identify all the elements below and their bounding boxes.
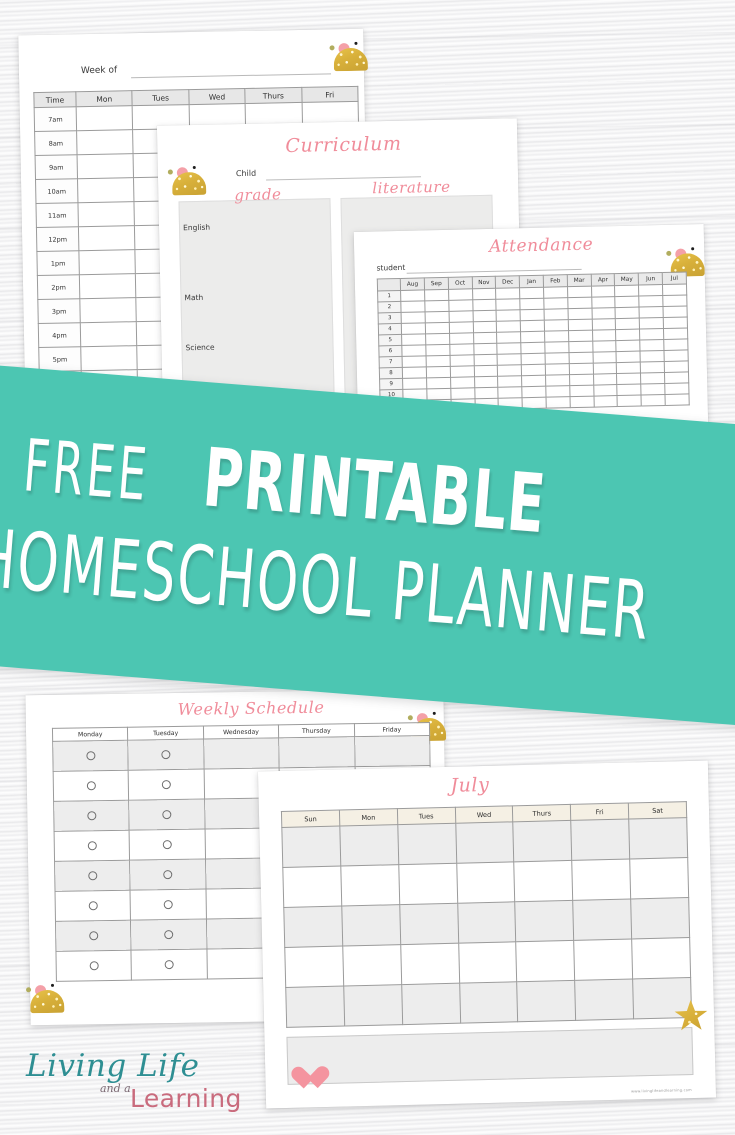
pinterest-pin-image: Week of TimeMonTuesWedThursFri 7am8am9am… bbox=[0, 0, 735, 1135]
cell-9-nov[interactable] bbox=[474, 376, 498, 388]
checkbox-circle[interactable] bbox=[89, 961, 98, 970]
cell-9-dec[interactable] bbox=[498, 376, 522, 388]
day-cell-w0-thurs[interactable] bbox=[513, 820, 572, 861]
cell-5-nov[interactable] bbox=[473, 332, 497, 344]
column-header-4: Thurs bbox=[245, 87, 302, 103]
day-cell-w2-sun[interactable] bbox=[284, 906, 343, 947]
column-header-friday: Friday bbox=[354, 722, 430, 736]
cell-4-apr[interactable] bbox=[592, 319, 616, 331]
day-cell-w4-thurs[interactable] bbox=[517, 980, 576, 1021]
column-header-tuesday: Tuesday bbox=[128, 726, 204, 740]
day-cell-w0-sat[interactable] bbox=[629, 818, 688, 859]
cell-9-feb[interactable] bbox=[546, 375, 570, 387]
cell-5-mar[interactable] bbox=[568, 330, 592, 342]
checkbox-circle[interactable] bbox=[161, 750, 170, 759]
cell-6-monday[interactable] bbox=[55, 920, 131, 951]
hedgehog-glitter-icon bbox=[166, 165, 211, 196]
day-cell-w1-sun[interactable] bbox=[283, 866, 342, 907]
cell-4-1[interactable] bbox=[78, 202, 135, 227]
checkbox-circle[interactable] bbox=[162, 780, 171, 789]
cell-7-tuesday[interactable] bbox=[131, 949, 207, 980]
day-cell-w3-fri[interactable] bbox=[574, 939, 633, 980]
column-header-blank bbox=[377, 278, 400, 291]
cell-0-wednesday[interactable] bbox=[203, 738, 279, 769]
cell-11-may[interactable] bbox=[617, 395, 641, 407]
cell-8-jan[interactable] bbox=[522, 364, 546, 376]
cell-3-nov[interactable] bbox=[473, 310, 497, 322]
cell-4-dec[interactable] bbox=[497, 321, 521, 333]
column-header-wed: Wed bbox=[455, 806, 513, 823]
cell-7-jan[interactable] bbox=[521, 353, 545, 365]
cell-9-oct[interactable] bbox=[450, 377, 474, 389]
cell-3-jun[interactable] bbox=[639, 306, 663, 318]
cell-4-jul[interactable] bbox=[663, 317, 687, 329]
cell-2-jul[interactable] bbox=[663, 295, 687, 307]
time-label-3[interactable]: 10am bbox=[36, 179, 79, 204]
cell-11-mar[interactable] bbox=[570, 396, 594, 408]
day-cell-w0-sun[interactable] bbox=[282, 826, 341, 867]
cell-0-thursday[interactable] bbox=[279, 737, 355, 768]
row-number-4[interactable]: 4 bbox=[378, 323, 401, 335]
olive-dot-icon bbox=[168, 169, 173, 174]
checkbox-circle[interactable] bbox=[86, 781, 95, 790]
cell-2-nov[interactable] bbox=[472, 299, 496, 311]
day-cell-w4-mon[interactable] bbox=[344, 985, 403, 1026]
cell-0-friday[interactable] bbox=[354, 735, 430, 766]
day-cell-w3-thurs[interactable] bbox=[516, 940, 575, 981]
subject-math: Math bbox=[184, 293, 203, 302]
subject-science: Science bbox=[185, 343, 214, 353]
cell-11-feb[interactable] bbox=[546, 397, 570, 409]
cell-4-jun[interactable] bbox=[640, 317, 664, 329]
table-row bbox=[286, 978, 692, 1028]
cell-3-jan[interactable] bbox=[520, 309, 544, 321]
checkbox-circle[interactable] bbox=[164, 930, 173, 939]
column-header-apr: Apr bbox=[591, 274, 615, 287]
olive-dot-icon bbox=[329, 45, 334, 50]
cell-9-aug[interactable] bbox=[403, 378, 427, 390]
column-header-tues: Tues bbox=[397, 807, 455, 824]
pink-heart-icon bbox=[291, 1067, 318, 1092]
brand-learning: Learning bbox=[130, 1084, 242, 1113]
day-cell-w3-tues[interactable] bbox=[400, 943, 459, 984]
cell-5-dec[interactable] bbox=[497, 332, 521, 344]
cell-1-feb[interactable] bbox=[544, 287, 568, 299]
week-of-label: Week of bbox=[81, 65, 117, 76]
time-label-8[interactable]: 3pm bbox=[38, 299, 81, 324]
cell-6-jan[interactable] bbox=[521, 342, 545, 354]
cell-5-jun[interactable] bbox=[640, 328, 664, 340]
attendance-title: Attendance bbox=[489, 235, 594, 257]
day-cell-w0-tues[interactable] bbox=[397, 823, 456, 864]
cell-8-jun[interactable] bbox=[641, 361, 665, 373]
cell-6-jun[interactable] bbox=[640, 339, 664, 351]
cell-2-oct[interactable] bbox=[449, 300, 473, 312]
cell-9-jan[interactable] bbox=[522, 375, 546, 387]
day-cell-w2-mon[interactable] bbox=[342, 905, 401, 946]
black-dot-icon bbox=[51, 984, 54, 987]
cell-8-may[interactable] bbox=[617, 362, 641, 374]
cell-1-sep[interactable] bbox=[425, 289, 449, 301]
cell-10-mar[interactable] bbox=[570, 385, 594, 397]
column-header-oct: Oct bbox=[448, 277, 472, 290]
cell-8-dec[interactable] bbox=[498, 365, 522, 377]
subject-english: English bbox=[183, 223, 210, 233]
time-label-2[interactable]: 9am bbox=[35, 155, 78, 180]
cell-6-aug[interactable] bbox=[402, 345, 426, 357]
day-cell-w1-sat[interactable] bbox=[630, 858, 689, 899]
cell-4-mar[interactable] bbox=[568, 319, 592, 331]
checkbox-circle[interactable] bbox=[88, 871, 97, 880]
row-number-3[interactable]: 3 bbox=[378, 312, 401, 324]
cell-1-tuesday[interactable] bbox=[129, 769, 205, 800]
column-header-thurs: Thurs bbox=[513, 804, 571, 821]
olive-dot-icon bbox=[666, 251, 671, 256]
cell-7-oct[interactable] bbox=[450, 355, 474, 367]
cell-8-aug[interactable] bbox=[402, 367, 426, 379]
cell-10-apr[interactable] bbox=[593, 385, 617, 397]
olive-dot-icon bbox=[408, 715, 413, 720]
cell-1-1[interactable] bbox=[77, 130, 134, 155]
cell-11-apr[interactable] bbox=[594, 396, 618, 408]
july-title: July bbox=[450, 774, 490, 797]
row-number-6[interactable]: 6 bbox=[379, 345, 402, 357]
day-cell-w4-sun[interactable] bbox=[286, 986, 345, 1027]
cell-3-oct[interactable] bbox=[449, 311, 473, 323]
cell-7-feb[interactable] bbox=[545, 353, 569, 365]
cell-5-jan[interactable] bbox=[521, 331, 545, 343]
column-header-0: Time bbox=[34, 92, 76, 108]
cell-4-may[interactable] bbox=[616, 318, 640, 330]
hedgehog-body bbox=[334, 48, 368, 72]
cell-0-monday[interactable] bbox=[53, 740, 129, 771]
cell-7-aug[interactable] bbox=[402, 356, 426, 368]
column-header-may: May bbox=[615, 273, 639, 286]
column-header-mar: Mar bbox=[567, 274, 591, 287]
cell-2-dec[interactable] bbox=[496, 299, 520, 311]
cell-3-may[interactable] bbox=[615, 307, 639, 319]
cell-7-jul[interactable] bbox=[664, 350, 688, 362]
time-label-1[interactable]: 8am bbox=[35, 131, 78, 156]
cell-5-jul[interactable] bbox=[664, 328, 688, 340]
cell-3-tuesday[interactable] bbox=[129, 829, 205, 860]
cell-2-may[interactable] bbox=[615, 296, 639, 308]
cell-6-1[interactable] bbox=[79, 250, 136, 275]
cell-7-monday[interactable] bbox=[56, 950, 132, 981]
cell-7-dec[interactable] bbox=[497, 354, 521, 366]
cell-0-tuesday[interactable] bbox=[128, 739, 204, 770]
cell-11-jul[interactable] bbox=[665, 394, 689, 406]
cell-8-1[interactable] bbox=[80, 298, 137, 323]
cell-5-feb[interactable] bbox=[545, 331, 569, 343]
day-cell-w1-wed[interactable] bbox=[456, 862, 515, 903]
planner-sheet-july-calendar: July SunMonTuesWedThursFriSat www.living… bbox=[258, 761, 716, 1109]
cell-2-feb[interactable] bbox=[544, 298, 568, 310]
curriculum-literature-header: literature bbox=[372, 178, 451, 198]
july-notes-area bbox=[286, 1027, 693, 1085]
cell-1-oct[interactable] bbox=[448, 289, 472, 301]
site-watermark: www.livinglifeandlearning.com bbox=[631, 1088, 692, 1093]
cell-0-1[interactable] bbox=[76, 106, 133, 131]
cell-8-jul[interactable] bbox=[664, 361, 688, 373]
black-dot-icon bbox=[691, 247, 694, 250]
cell-2-jun[interactable] bbox=[639, 295, 663, 307]
cell-10-sep[interactable] bbox=[427, 388, 451, 400]
day-cell-w1-tues[interactable] bbox=[398, 863, 457, 904]
cell-2-jan[interactable] bbox=[520, 298, 544, 310]
child-label: Child bbox=[236, 169, 256, 178]
cell-4-sep[interactable] bbox=[425, 322, 449, 334]
cell-10-1[interactable] bbox=[81, 346, 138, 371]
day-cell-w3-sun[interactable] bbox=[285, 946, 344, 987]
week-of-writeline bbox=[131, 73, 331, 78]
cell-6-apr[interactable] bbox=[592, 341, 616, 353]
cell-5-apr[interactable] bbox=[592, 330, 616, 342]
time-label-0[interactable]: 7am bbox=[34, 107, 77, 132]
cell-1-nov[interactable] bbox=[472, 288, 496, 300]
day-cell-w2-wed[interactable] bbox=[457, 902, 516, 943]
day-cell-w0-wed[interactable] bbox=[455, 822, 514, 863]
cell-6-jul[interactable] bbox=[664, 339, 688, 351]
cell-2-tuesday[interactable] bbox=[129, 799, 205, 830]
cell-9-jul[interactable] bbox=[665, 372, 689, 384]
cell-8-apr[interactable] bbox=[593, 363, 617, 375]
cell-6-feb[interactable] bbox=[545, 342, 569, 354]
cell-8-oct[interactable] bbox=[450, 366, 474, 378]
column-header-5: Fri bbox=[301, 86, 358, 102]
july-calendar-table: SunMonTuesWedThursFriSat bbox=[281, 801, 692, 1028]
cell-11-jun[interactable] bbox=[641, 394, 665, 406]
time-label-7[interactable]: 2pm bbox=[37, 275, 80, 300]
cell-7-jun[interactable] bbox=[640, 350, 664, 362]
day-cell-w4-tues[interactable] bbox=[401, 983, 460, 1024]
student-label: student bbox=[376, 263, 405, 273]
olive-dot-icon bbox=[26, 987, 31, 992]
cell-9-may[interactable] bbox=[617, 373, 641, 385]
time-label-6[interactable]: 1pm bbox=[37, 251, 80, 276]
checkbox-circle[interactable] bbox=[87, 811, 96, 820]
cell-7-may[interactable] bbox=[616, 351, 640, 363]
column-header-monday: Monday bbox=[52, 727, 128, 741]
brand-living-life: Living Life bbox=[26, 1048, 199, 1084]
cell-1-aug[interactable] bbox=[401, 290, 425, 302]
row-number-1[interactable]: 1 bbox=[378, 290, 401, 302]
time-label-10[interactable]: 5pm bbox=[39, 347, 82, 372]
cell-4-oct[interactable] bbox=[449, 322, 473, 334]
cell-10-jun[interactable] bbox=[641, 383, 665, 395]
column-header-fri: Fri bbox=[571, 803, 629, 820]
cell-5-may[interactable] bbox=[616, 329, 640, 341]
cell-6-may[interactable] bbox=[616, 340, 640, 352]
cell-5-oct[interactable] bbox=[449, 333, 473, 345]
day-cell-w1-mon[interactable] bbox=[341, 865, 400, 906]
cell-3-aug[interactable] bbox=[401, 312, 425, 324]
day-cell-w4-wed[interactable] bbox=[459, 982, 518, 1023]
cell-5-monday[interactable] bbox=[55, 890, 131, 921]
cell-2-1[interactable] bbox=[77, 154, 134, 179]
cell-8-nov[interactable] bbox=[474, 365, 498, 377]
column-header-nov: Nov bbox=[472, 276, 496, 289]
day-cell-w0-mon[interactable] bbox=[340, 825, 399, 866]
cell-7-apr[interactable] bbox=[593, 352, 617, 364]
teal-banner bbox=[0, 360, 735, 730]
checkbox-circle[interactable] bbox=[163, 870, 172, 879]
cell-5-tuesday[interactable] bbox=[130, 889, 206, 920]
cell-8-mar[interactable] bbox=[569, 363, 593, 375]
hedgehog-body bbox=[172, 172, 206, 196]
day-cell-w1-fri[interactable] bbox=[572, 859, 631, 900]
cell-3-dec[interactable] bbox=[496, 310, 520, 322]
day-cell-w2-sat[interactable] bbox=[631, 898, 690, 939]
cell-6-oct[interactable] bbox=[450, 344, 474, 356]
cell-4-nov[interactable] bbox=[473, 321, 497, 333]
row-number-5[interactable]: 5 bbox=[379, 334, 402, 346]
cell-1-jul[interactable] bbox=[663, 284, 687, 296]
cell-3-sep[interactable] bbox=[425, 311, 449, 323]
curriculum-title: Curriculum bbox=[285, 133, 402, 157]
time-label-4[interactable]: 11am bbox=[36, 203, 79, 228]
column-header-jan: Jan bbox=[519, 275, 543, 288]
cell-3-apr[interactable] bbox=[592, 308, 616, 320]
cell-3-mar[interactable] bbox=[568, 308, 592, 320]
column-header-3: Wed bbox=[189, 89, 246, 105]
cell-10-jan[interactable] bbox=[522, 386, 546, 398]
cell-6-dec[interactable] bbox=[497, 343, 521, 355]
cell-1-jun[interactable] bbox=[639, 285, 663, 297]
day-cell-w1-thurs[interactable] bbox=[514, 860, 573, 901]
column-header-aug: Aug bbox=[400, 278, 424, 291]
row-number-2[interactable]: 2 bbox=[378, 301, 401, 313]
cell-1-may[interactable] bbox=[615, 285, 639, 297]
cell-10-may[interactable] bbox=[617, 384, 641, 396]
hedgehog-glitter-icon bbox=[327, 41, 372, 72]
cell-10-feb[interactable] bbox=[546, 386, 570, 398]
cell-2-apr[interactable] bbox=[591, 297, 615, 309]
column-header-thursday: Thursday bbox=[279, 724, 355, 738]
cell-9-sep[interactable] bbox=[427, 377, 451, 389]
cell-10-dec[interactable] bbox=[498, 387, 522, 399]
cell-1-dec[interactable] bbox=[496, 288, 520, 300]
row-number-9[interactable]: 9 bbox=[380, 378, 403, 390]
cell-10-jul[interactable] bbox=[665, 383, 689, 395]
cell-1-mar[interactable] bbox=[567, 286, 591, 298]
cell-4-monday[interactable] bbox=[55, 860, 131, 891]
cell-6-nov[interactable] bbox=[473, 343, 497, 355]
column-header-feb: Feb bbox=[543, 275, 567, 288]
cell-7-sep[interactable] bbox=[426, 355, 450, 367]
cell-1-monday[interactable] bbox=[53, 770, 129, 801]
checkbox-circle[interactable] bbox=[164, 900, 173, 909]
cell-2-sep[interactable] bbox=[425, 300, 449, 312]
brand-logo: Living Life and a Learning bbox=[22, 1048, 238, 1122]
cell-10-oct[interactable] bbox=[451, 388, 475, 400]
cell-5-1[interactable] bbox=[79, 226, 136, 251]
cell-1-apr[interactable] bbox=[591, 286, 615, 298]
column-header-sun: Sun bbox=[281, 810, 339, 827]
cell-1-jan[interactable] bbox=[520, 287, 544, 299]
day-cell-w0-fri[interactable] bbox=[571, 819, 630, 860]
day-cell-w2-thurs[interactable] bbox=[515, 900, 574, 941]
black-dot-icon bbox=[193, 166, 196, 169]
column-header-jul: Jul bbox=[662, 272, 686, 285]
checkbox-circle[interactable] bbox=[165, 960, 174, 969]
time-label-9[interactable]: 4pm bbox=[38, 323, 81, 348]
cell-9-1[interactable] bbox=[80, 322, 137, 347]
time-label-5[interactable]: 12pm bbox=[36, 227, 79, 252]
day-cell-w3-mon[interactable] bbox=[343, 945, 402, 986]
checkbox-circle[interactable] bbox=[87, 841, 96, 850]
checkbox-circle[interactable] bbox=[86, 751, 95, 760]
cell-2-mar[interactable] bbox=[568, 297, 592, 309]
checkbox-circle[interactable] bbox=[89, 931, 98, 940]
day-cell-w3-wed[interactable] bbox=[458, 942, 517, 983]
column-header-sat: Sat bbox=[628, 802, 686, 819]
row-number-8[interactable]: 8 bbox=[379, 367, 402, 379]
cell-5-aug[interactable] bbox=[402, 334, 426, 346]
student-writeline bbox=[407, 269, 582, 274]
cell-8-sep[interactable] bbox=[426, 366, 450, 378]
cell-8-feb[interactable] bbox=[545, 364, 569, 376]
cell-9-mar[interactable] bbox=[569, 374, 593, 386]
day-cell-w4-fri[interactable] bbox=[575, 979, 634, 1020]
cell-10-nov[interactable] bbox=[474, 387, 498, 399]
checkbox-circle[interactable] bbox=[163, 840, 172, 849]
column-header-1: Mon bbox=[76, 91, 133, 107]
column-header-jun: Jun bbox=[639, 273, 663, 286]
column-header-wednesday: Wednesday bbox=[203, 725, 279, 739]
day-cell-w2-fri[interactable] bbox=[573, 899, 632, 940]
cell-5-sep[interactable] bbox=[426, 333, 450, 345]
weekly-schedule-title: Weekly Schedule bbox=[178, 698, 325, 719]
cell-7-nov[interactable] bbox=[474, 354, 498, 366]
cell-6-mar[interactable] bbox=[569, 341, 593, 353]
cell-2-monday[interactable] bbox=[54, 800, 130, 831]
curriculum-grade-header: grade bbox=[234, 185, 282, 204]
day-cell-w3-sat[interactable] bbox=[632, 938, 691, 979]
column-header-mon: Mon bbox=[339, 809, 397, 826]
cell-4-tuesday[interactable] bbox=[130, 859, 206, 890]
cell-4-feb[interactable] bbox=[544, 320, 568, 332]
black-dot-icon bbox=[354, 42, 357, 45]
checkbox-circle[interactable] bbox=[162, 810, 171, 819]
column-header-dec: Dec bbox=[496, 276, 520, 289]
black-dot-icon bbox=[433, 712, 436, 715]
cell-7-mar[interactable] bbox=[569, 352, 593, 364]
cell-3-1[interactable] bbox=[78, 178, 135, 203]
day-cell-w2-tues[interactable] bbox=[399, 903, 458, 944]
column-header-2: Tues bbox=[132, 90, 189, 106]
cell-7-1[interactable] bbox=[79, 274, 136, 299]
cell-4-jan[interactable] bbox=[521, 320, 545, 332]
cell-6-tuesday[interactable] bbox=[131, 919, 207, 950]
row-number-7[interactable]: 7 bbox=[379, 356, 402, 368]
cell-6-sep[interactable] bbox=[426, 344, 450, 356]
cell-3-jul[interactable] bbox=[663, 306, 687, 318]
cell-9-apr[interactable] bbox=[593, 374, 617, 386]
brand-and-a: and a bbox=[100, 1082, 131, 1095]
cell-3-monday[interactable] bbox=[54, 830, 130, 861]
column-header-sep: Sep bbox=[424, 277, 448, 290]
attendance-table: AugSepOctNovDecJanFebMarAprMayJunJul 123… bbox=[377, 271, 690, 412]
cell-3-feb[interactable] bbox=[544, 309, 568, 321]
cell-2-aug[interactable] bbox=[401, 301, 425, 313]
cell-4-aug[interactable] bbox=[401, 323, 425, 335]
cell-9-jun[interactable] bbox=[641, 372, 665, 384]
checkbox-circle[interactable] bbox=[88, 901, 97, 910]
